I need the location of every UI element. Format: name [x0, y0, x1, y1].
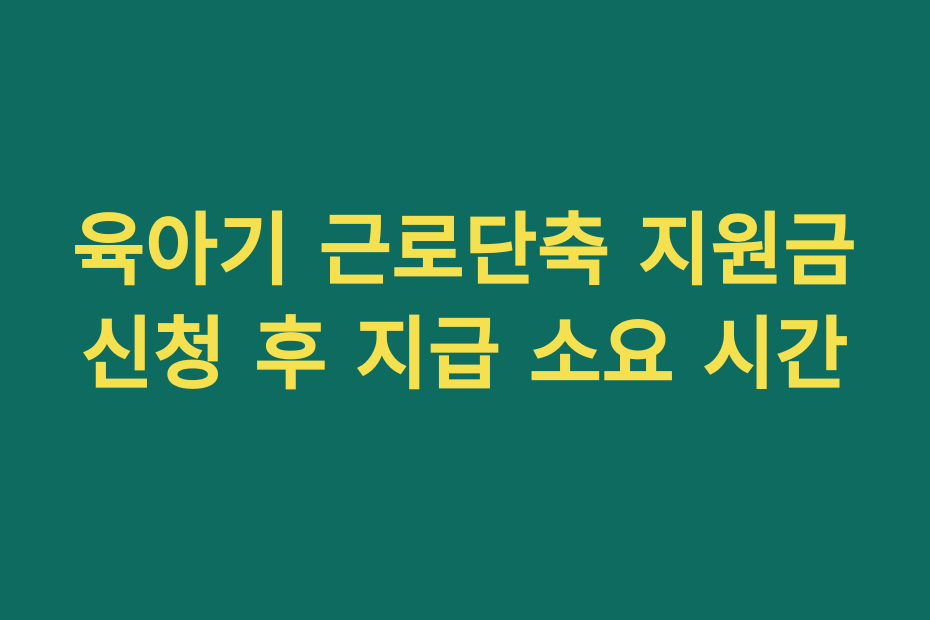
headline-line-1: 육아기 근로단축 지원금	[0, 201, 930, 301]
headline-block: 육아기 근로단축 지원금 신청 후 지급 소요 시간	[0, 201, 930, 405]
poster-canvas: 육아기 근로단축 지원금 신청 후 지급 소요 시간	[0, 0, 930, 620]
headline-line-2: 신청 후 지급 소요 시간	[0, 305, 930, 405]
